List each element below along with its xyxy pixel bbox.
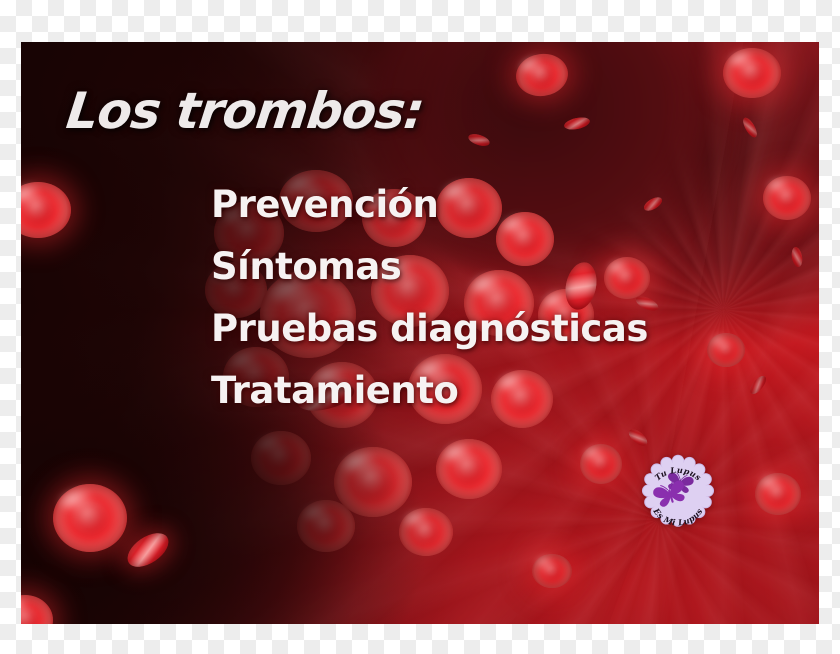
red-blood-cell bbox=[53, 484, 127, 552]
logo-badge: Tu Lupus Es Mi Lupus bbox=[635, 454, 721, 540]
list-item: Pruebas diagnósticas bbox=[211, 298, 648, 360]
poster-image: Los trombos: Prevención Síntomas Pruebas… bbox=[21, 42, 819, 624]
list-item: Tratamiento bbox=[211, 360, 648, 422]
list-item: Prevención bbox=[211, 174, 648, 236]
topic-list: Prevención Síntomas Pruebas diagnósticas… bbox=[211, 174, 648, 422]
page-title: Los trombos: bbox=[63, 82, 426, 140]
list-item: Síntomas bbox=[211, 236, 648, 298]
screenshot-root: Los trombos: Prevención Síntomas Pruebas… bbox=[0, 0, 840, 654]
